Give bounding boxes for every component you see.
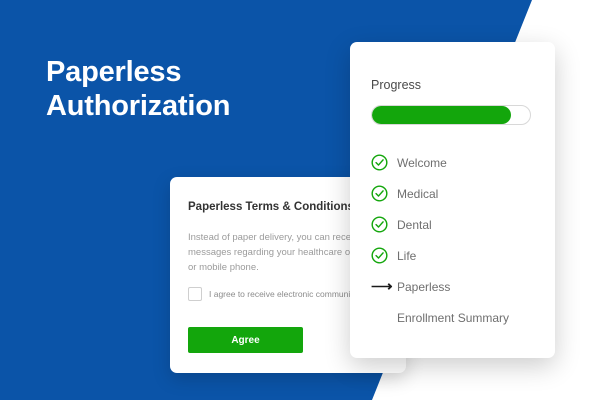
progress-bar xyxy=(371,105,531,125)
step-label: Life xyxy=(397,249,416,263)
step-item-medical[interactable]: Medical xyxy=(371,178,546,209)
check-circle-icon xyxy=(371,185,388,202)
consent-row[interactable]: I agree to receive electronic communicat… xyxy=(188,287,377,301)
consent-checkbox[interactable] xyxy=(188,287,202,301)
step-item-welcome[interactable]: Welcome xyxy=(371,147,546,178)
agree-button[interactable]: Agree xyxy=(188,327,303,353)
check-circle-icon xyxy=(371,247,397,264)
check-circle-icon xyxy=(371,216,397,233)
arrow-right-icon: ⟶ xyxy=(371,279,397,294)
step-item-paperless[interactable]: ⟶Paperless xyxy=(371,271,546,302)
progress-card: Progress WelcomeMedicalDentalLife⟶Paperl… xyxy=(350,42,555,358)
step-label: Dental xyxy=(397,218,432,232)
screen-root: Paperless Authorization Paperless Terms … xyxy=(0,0,600,400)
step-item-dental[interactable]: Dental xyxy=(371,209,546,240)
terms-card-heading: Paperless Terms & Conditions xyxy=(188,201,354,213)
step-label: Medical xyxy=(397,187,438,201)
progress-label: Progress xyxy=(371,78,421,92)
step-item-enrollment-summary[interactable]: Enrollment Summary xyxy=(371,302,546,333)
step-item-life[interactable]: Life xyxy=(371,240,546,271)
step-label: Paperless xyxy=(397,280,450,294)
step-label: Welcome xyxy=(397,156,447,170)
check-circle-icon xyxy=(371,247,388,264)
step-label: Enrollment Summary xyxy=(397,311,509,325)
page-title: Paperless Authorization xyxy=(46,55,346,123)
check-circle-icon xyxy=(371,216,388,233)
progress-bar-fill xyxy=(372,106,511,124)
check-circle-icon xyxy=(371,154,388,171)
enrollment-steps-list: WelcomeMedicalDentalLife⟶PaperlessEnroll… xyxy=(371,147,546,333)
arrow-right-glyph: ⟶ xyxy=(371,279,393,294)
check-circle-icon xyxy=(371,185,397,202)
check-circle-icon xyxy=(371,154,397,171)
